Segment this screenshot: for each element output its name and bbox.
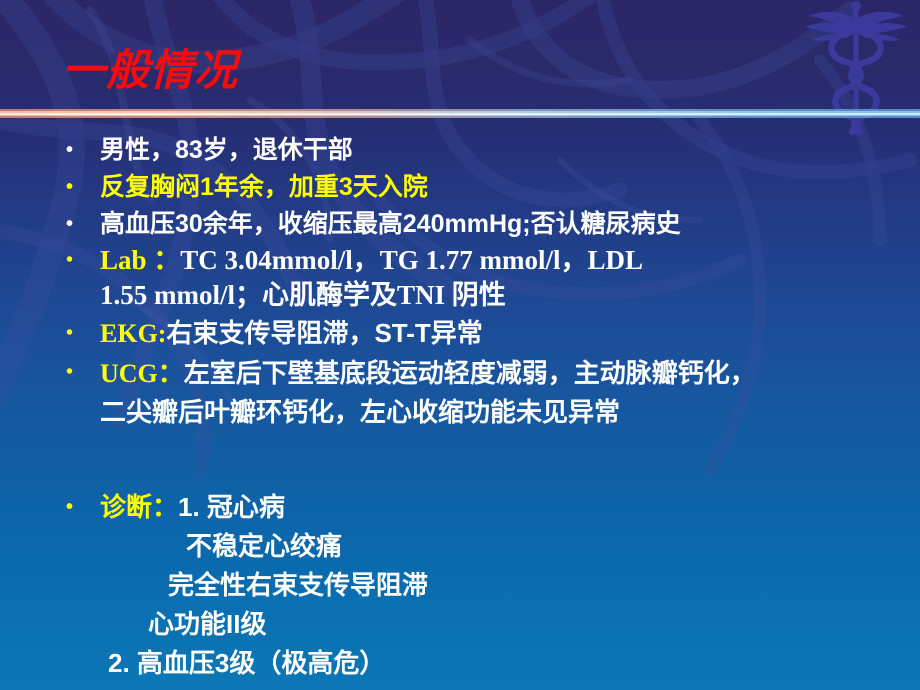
diagnosis-subline: 完全性右束支传导阻滞 xyxy=(58,566,920,605)
bullet-line: UCG：左室后下壁基底段运动轻度减弱，主动脉瓣钙化， xyxy=(100,354,920,393)
bullet-line: 二尖瓣后叶瓣环钙化，左心收缩功能未见异常 xyxy=(100,393,920,432)
diagnosis-subline: 不稳定心绞痛 xyxy=(58,527,920,566)
bullet-item-patient-profile: • 男性，83岁，退休干部 xyxy=(58,132,920,169)
bullet-item-ucg: • UCG：左室后下壁基底段运动轻度减弱，主动脉瓣钙化， 二尖瓣后叶瓣环钙化，左… xyxy=(58,354,920,432)
bullet-line: 1.55 mmol/l；心肌酶学及TNI 阴性 xyxy=(100,278,920,313)
diagnosis-subline: 心功能II级 xyxy=(58,605,920,644)
caduceus-icon xyxy=(802,0,910,140)
bullet-line: 诊断：1. 冠心病 xyxy=(100,488,920,527)
bullet-text: 左室后下壁基底段运动轻度减弱，主动脉瓣钙化， xyxy=(184,358,756,388)
slide-title: 一般情况 xyxy=(62,50,238,93)
bullet-marker-icon: • xyxy=(66,169,73,206)
bullet-line: 男性，83岁，退休干部 xyxy=(100,132,920,169)
bullet-line: 反复胸闷1年余，加重3天入院 xyxy=(100,169,920,206)
bullet-text: 右束支传导阻滞，ST-T异常 xyxy=(166,318,482,348)
bullet-text: 1. 冠心病 xyxy=(178,492,285,522)
bullet-item-chief-complaint: • 反复胸闷1年余，加重3天入院 xyxy=(58,169,920,206)
bullet-line: 高血压30余年，收缩压最高240mmHg;否认糖尿病史 xyxy=(100,206,920,243)
bullet-item-history: • 高血压30余年，收缩压最高240mmHg;否认糖尿病史 xyxy=(58,206,920,243)
bullet-label-ucg: UCG： xyxy=(100,359,184,388)
divider-core-band xyxy=(0,113,920,115)
bullet-label-ekg: EKG: xyxy=(100,319,166,348)
diagnosis-subline: 2. 高血压3级（极高危） xyxy=(58,644,920,683)
bullet-line: Lab ：TC 3.04mmol/l，TG 1.77 mmol/l，LDL xyxy=(100,243,920,278)
bullet-marker-icon: • xyxy=(66,354,73,391)
content-body: • 男性，83岁，退休干部 • 反复胸闷1年余，加重3天入院 • 高血压30余年… xyxy=(58,132,920,683)
slide-canvas: 一般情况 • 男性，83岁，退休干部 • 反复胸闷1年余，加重3天入院 • 高血… xyxy=(0,0,920,690)
bullet-text: TC 3.04mmol/l，TG 1.77 mmol/l，LDL xyxy=(180,245,643,275)
bullet-marker-icon: • xyxy=(66,243,73,278)
bullet-marker-icon: • xyxy=(66,488,73,527)
bullet-marker-icon: • xyxy=(66,132,73,169)
bullet-label-diagnosis: 诊断： xyxy=(100,492,178,522)
bullet-marker-icon: • xyxy=(66,206,73,243)
bullet-item-ekg: • EKG:右束支传导阻滞，ST-T异常 xyxy=(58,313,920,354)
bullet-item-diagnosis: • 诊断：1. 冠心病 xyxy=(58,488,920,527)
bullet-line: EKG:右束支传导阻滞，ST-T异常 xyxy=(100,313,920,354)
bullet-item-lab: • Lab ：TC 3.04mmol/l，TG 1.77 mmol/l，LDL … xyxy=(58,243,920,313)
bullet-marker-icon: • xyxy=(66,313,73,354)
bullet-label-lab: Lab ： xyxy=(100,245,180,275)
header-divider xyxy=(0,109,920,118)
